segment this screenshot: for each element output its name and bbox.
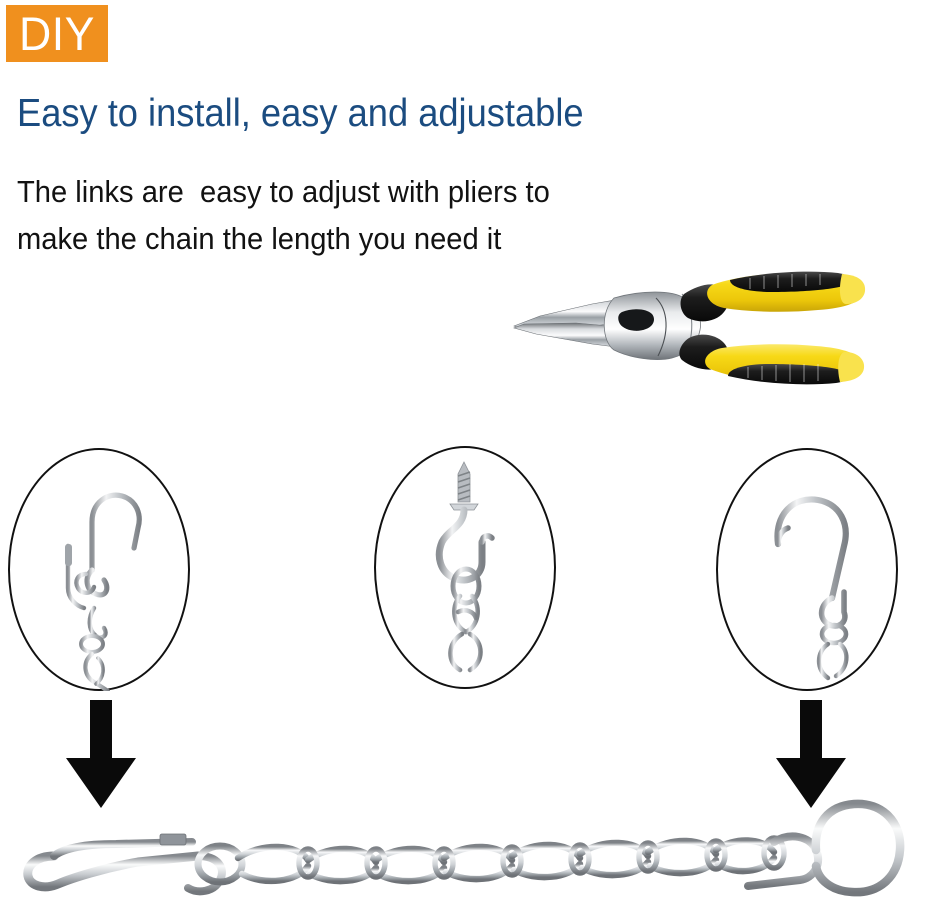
detail-oval-1-art xyxy=(8,448,190,691)
s-hook-lower xyxy=(822,592,845,626)
screw-thread xyxy=(450,462,478,510)
chain-assembly-illustration xyxy=(12,782,932,914)
diy-badge: DIY xyxy=(6,5,108,62)
s-hook-upper-curve xyxy=(92,495,139,570)
swivel-clip-body xyxy=(68,546,106,637)
chain-link xyxy=(819,644,846,691)
chain-left-snap-clip xyxy=(28,834,222,891)
chain-link-2 xyxy=(450,634,480,689)
needle-nose-pliers-illustration xyxy=(506,268,866,393)
connector-ring xyxy=(81,636,103,652)
detail-oval-1 xyxy=(8,448,190,691)
clip-pin xyxy=(65,544,72,566)
diy-badge-label: DIY xyxy=(19,10,95,57)
chain-link-entry-2 xyxy=(96,658,103,684)
detail-oval-3 xyxy=(716,448,898,691)
pliers-lower-handle-cap xyxy=(838,352,864,382)
product-infographic-page: DIY Easy to install, easy and adjustable… xyxy=(0,0,937,917)
detail-oval-3-art xyxy=(716,448,898,691)
detail-oval-2-art xyxy=(374,446,556,689)
page-headline: Easy to install, easy and adjustable xyxy=(17,94,584,135)
detail-oval-2 xyxy=(374,446,556,689)
clip-keeper xyxy=(160,834,186,845)
pliers-upper-handle-cap xyxy=(840,274,865,304)
page-body-text: The links are easy to adjust with pliers… xyxy=(17,168,550,262)
cup-hook-tip xyxy=(482,536,492,542)
s-hook-upper xyxy=(777,499,845,598)
